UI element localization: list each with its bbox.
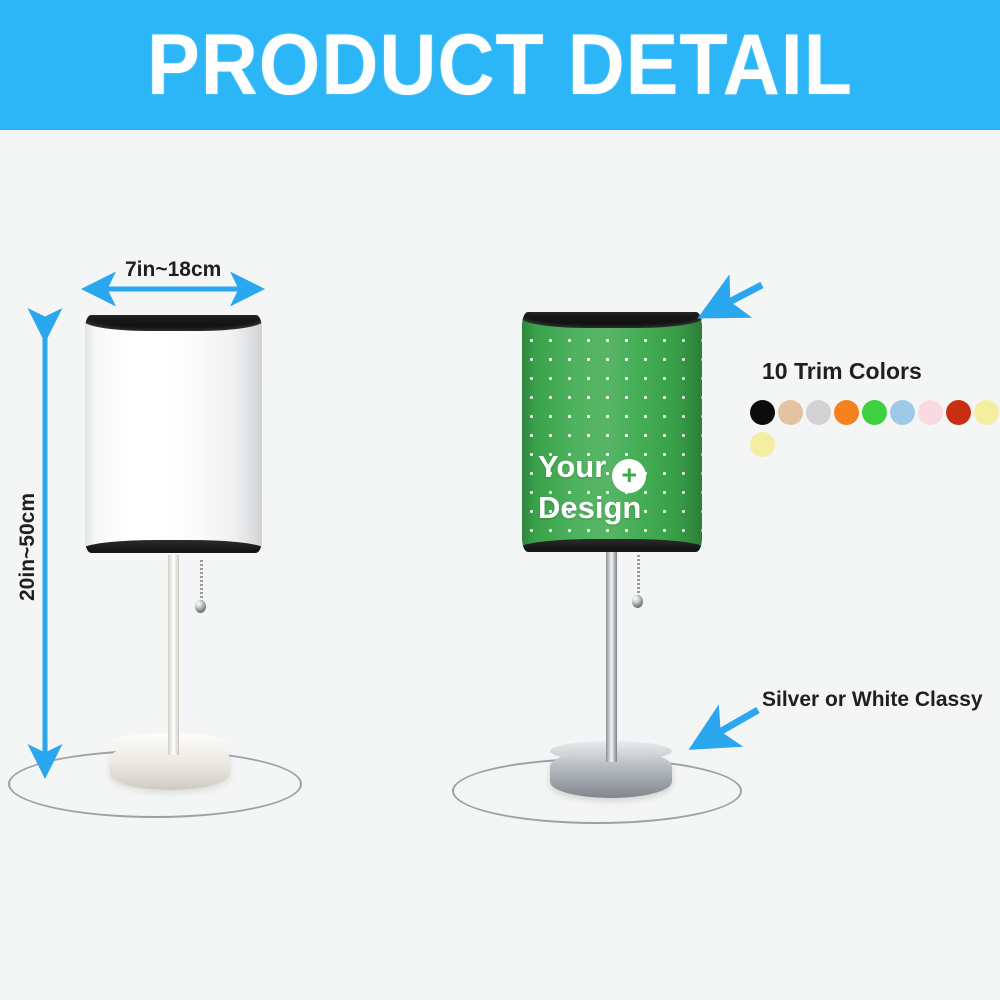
add-design-plus-icon[interactable]: + <box>612 459 646 493</box>
trim-color-swatch-pale-yellow[interactable] <box>750 432 775 457</box>
artwork-line-1: Your+ <box>538 452 688 493</box>
pull-chain-ball-silver[interactable] <box>632 595 643 608</box>
header-banner: PRODUCT DETAIL <box>0 0 1000 130</box>
trim-color-swatch-light-blue[interactable] <box>890 400 915 425</box>
trim-colors-row-1 <box>750 400 1000 425</box>
trim-color-swatch-tan[interactable] <box>778 400 803 425</box>
lampshade-trim-top-green <box>522 312 702 328</box>
trim-color-swatch-pink[interactable] <box>918 400 943 425</box>
base-finish-callout-label: Silver or White Classy <box>762 688 983 712</box>
trim-colors-heading: 10 Trim Colors <box>762 358 922 385</box>
lampshade-white <box>85 315 262 553</box>
trim-color-swatch-yellow[interactable] <box>974 400 999 425</box>
trim-color-swatch-black[interactable] <box>750 400 775 425</box>
trim-colors-swatch-grid <box>750 400 1000 464</box>
pull-chain-silver[interactable] <box>637 555 640 597</box>
trim-color-swatch-green[interactable] <box>862 400 887 425</box>
trim-color-swatch-dark-red[interactable] <box>946 400 971 425</box>
pull-chain-white[interactable] <box>200 560 203 602</box>
height-dimension-label: 20in~50cm <box>16 482 40 612</box>
lamp-pole-white <box>168 555 179 755</box>
lampshade-trim-bottom-green <box>522 539 702 552</box>
lampshade-trim-bottom-white <box>85 540 262 553</box>
trim-color-swatch-orange[interactable] <box>834 400 859 425</box>
lampshade-white-surface <box>85 315 262 553</box>
page-title: PRODUCT DETAIL <box>40 0 960 130</box>
width-dimension-label: 7in~18cm <box>125 258 221 282</box>
trim-color-swatch-light-gray[interactable] <box>806 400 831 425</box>
lampshade-trim-top-white <box>85 315 262 331</box>
product-detail-page: PRODUCT DETAIL <box>0 0 1000 1000</box>
lampshade-green: Your+ Design <box>522 312 702 552</box>
pull-chain-ball-white[interactable] <box>195 600 206 613</box>
product-stage: Your+ Design 10 Trim Colors Silver or Wh… <box>0 130 1000 1000</box>
lamp-pole-silver <box>606 550 617 762</box>
shade-artwork-your-design: Your+ Design <box>538 452 688 523</box>
artwork-line-2: Design <box>538 493 688 523</box>
trim-colors-row-2 <box>750 432 1000 457</box>
